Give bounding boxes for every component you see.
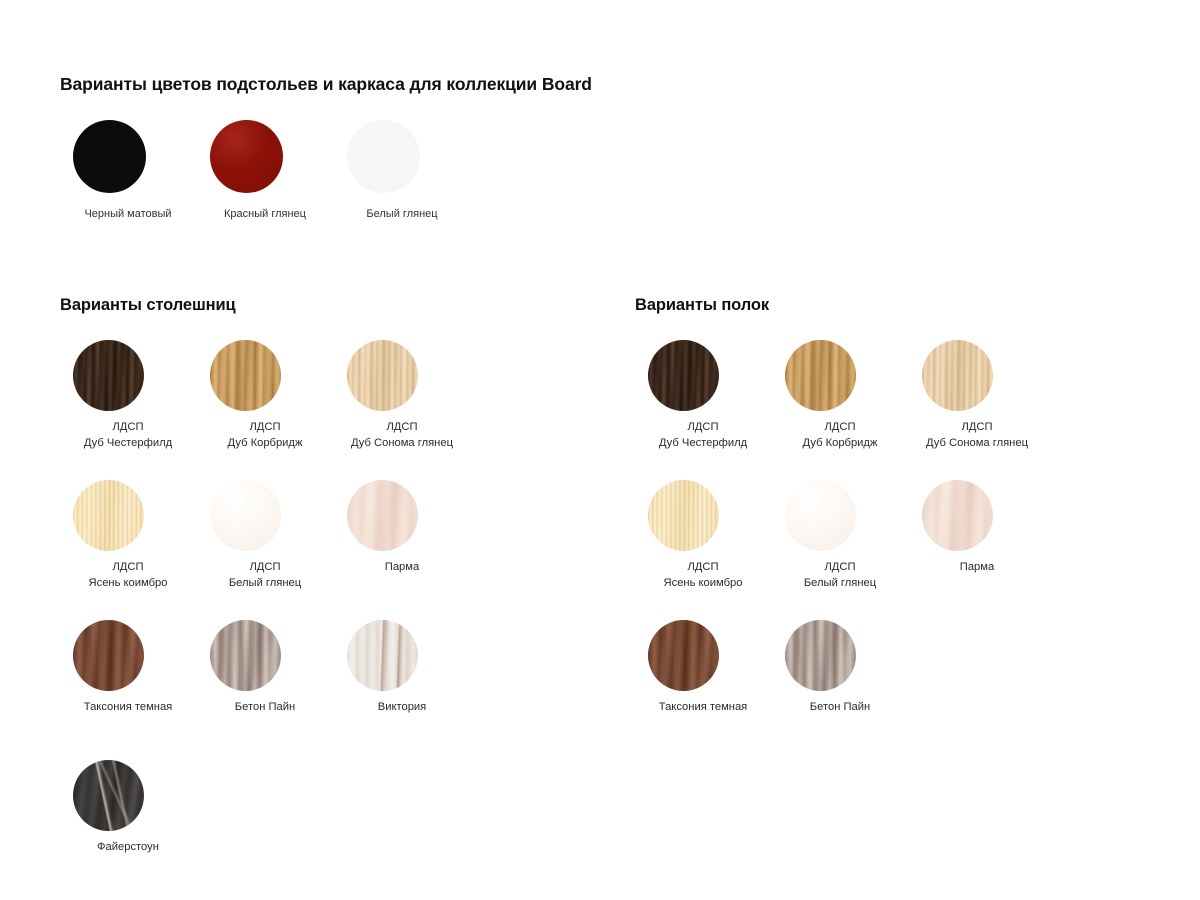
swatch-caption: Бетон Пайн xyxy=(185,700,345,716)
swatch-label-line1: ЛДСП xyxy=(386,421,417,433)
swatch-caption: ЛДСП Дуб Сонома глянец xyxy=(322,420,482,451)
swatch-label-line2: Дуб Честерфилд xyxy=(48,436,208,452)
swatch-label-line1: ЛДСП xyxy=(112,561,143,573)
swatch-caption: Файерстоун xyxy=(48,840,208,856)
ash-coimbro-disc[interactable] xyxy=(648,480,719,551)
swatch-label-line1: ЛДСП xyxy=(824,561,855,573)
tabletop-option[interactable]: ЛДСП Белый глянец xyxy=(197,480,334,620)
swatch-caption: ЛДСП Белый глянец xyxy=(760,560,920,591)
oak-chesterfield-disc[interactable] xyxy=(648,340,719,411)
swatch-label-line1: Черный матовый xyxy=(84,208,171,220)
frame-color-option[interactable]: Черный матовый xyxy=(60,120,197,235)
swatch-caption: ЛДСП Белый глянец xyxy=(185,560,345,591)
shelf-option[interactable]: ЛДСП Дуб Честерфилд xyxy=(635,340,772,480)
swatch-caption: Черный матовый xyxy=(48,207,208,223)
swatch-label-line2: Ясень коимбро xyxy=(48,576,208,592)
swatch-label-line1: ЛДСП xyxy=(961,421,992,433)
white-gloss-laminate-disc[interactable] xyxy=(785,480,856,551)
swatch-label-line1: Бетон Пайн xyxy=(235,701,295,713)
swatch-caption: ЛДСП Дуб Честерфилд xyxy=(48,420,208,451)
tabletop-option[interactable]: Парма xyxy=(334,480,471,620)
swatch-label-line2: Ясень коимбро xyxy=(623,576,783,592)
swatch-caption: ЛДСП Дуб Корбридж xyxy=(185,420,345,451)
shelf-option[interactable]: Таксония темная xyxy=(635,620,772,760)
swatch-label-line1: ЛДСП xyxy=(249,421,280,433)
swatch-caption: ЛДСП Ясень коимбро xyxy=(623,560,783,591)
swatch-label-line1: ЛДСП xyxy=(249,561,280,573)
swatch-caption: ЛДСП Дуб Корбридж xyxy=(760,420,920,451)
tabletop-option[interactable]: Бетон Пайн xyxy=(197,620,334,760)
frame-colors-grid: Черный матовый Красный глянец Белый глян… xyxy=(60,120,494,235)
oak-chesterfield-disc[interactable] xyxy=(73,340,144,411)
oak-corbridge-disc[interactable] xyxy=(785,340,856,411)
swatch-caption: ЛДСП Дуб Сонома глянец xyxy=(897,420,1057,451)
swatch-caption: Виктория xyxy=(322,700,482,716)
tabletop-option[interactable]: ЛДСП Ясень коимбро xyxy=(60,480,197,620)
swatch-label-line1: Парма xyxy=(960,561,994,573)
firestone-disc[interactable] xyxy=(73,760,144,831)
swatch-label-line2: Белый глянец xyxy=(760,576,920,592)
swatch-label-line1: ЛДСП xyxy=(687,561,718,573)
oak-corbridge-disc[interactable] xyxy=(210,340,281,411)
shelf-option[interactable]: ЛДСП Ясень коимбро xyxy=(635,480,772,620)
frame-color-option[interactable]: Белый глянец xyxy=(334,120,471,235)
swatch-label-line1: Таксония темная xyxy=(84,701,172,713)
shelf-option[interactable]: Бетон Пайн xyxy=(772,620,909,760)
shelf-option[interactable]: ЛДСП Дуб Сонома глянец xyxy=(909,340,1046,480)
oak-sonoma-gloss-disc[interactable] xyxy=(347,340,418,411)
shelf-options-grid: ЛДСП Дуб Честерфилд ЛДСП Дуб Корбридж ЛД… xyxy=(635,340,1069,760)
swatch-label-line1: ЛДСП xyxy=(824,421,855,433)
swatch-label-line2: Дуб Корбридж xyxy=(185,436,345,452)
ash-coimbro-disc[interactable] xyxy=(73,480,144,551)
swatch-label-line2: Дуб Сонома глянец xyxy=(897,436,1057,452)
shelves-section-title: Варианты полок xyxy=(635,296,769,315)
swatch-caption: Парма xyxy=(322,560,482,576)
swatch-caption: Белый глянец xyxy=(322,207,482,223)
white-gloss-disc[interactable] xyxy=(347,120,420,193)
tabletop-option[interactable]: Файерстоун xyxy=(60,760,197,900)
swatch-label-line1: Белый глянец xyxy=(366,208,437,220)
beton-pine-disc[interactable] xyxy=(785,620,856,691)
parma-disc[interactable] xyxy=(347,480,418,551)
swatch-label-line2: Белый глянец xyxy=(185,576,345,592)
swatch-caption: ЛДСП Ясень коимбро xyxy=(48,560,208,591)
taxonia-dark-disc[interactable] xyxy=(73,620,144,691)
red-gloss-disc[interactable] xyxy=(210,120,283,193)
beton-pine-disc[interactable] xyxy=(210,620,281,691)
tabletop-option[interactable]: ЛДСП Дуб Корбридж xyxy=(197,340,334,480)
shelf-option[interactable]: ЛДСП Белый глянец xyxy=(772,480,909,620)
swatch-caption: Красный глянец xyxy=(185,207,345,223)
black-matte-disc[interactable] xyxy=(73,120,146,193)
swatch-label-line1: Таксония темная xyxy=(659,701,747,713)
swatch-caption: Таксония темная xyxy=(623,700,783,716)
swatch-label-line1: Красный глянец xyxy=(224,208,306,220)
swatch-label-line1: Парма xyxy=(385,561,419,573)
color-options-page: Варианты цветов подстольев и каркаса для… xyxy=(0,0,1200,900)
tabletop-options-grid: ЛДСП Дуб Честерфилд ЛДСП Дуб Корбридж ЛД… xyxy=(60,340,494,900)
page-title: Варианты цветов подстольев и каркаса для… xyxy=(60,74,592,95)
tabletops-section-title: Варианты столешниц xyxy=(60,296,236,315)
swatch-caption: Таксония темная xyxy=(48,700,208,716)
oak-sonoma-gloss-disc[interactable] xyxy=(922,340,993,411)
victoria-disc[interactable] xyxy=(347,620,418,691)
swatch-label-line1: Файерстоун xyxy=(97,841,159,853)
swatch-label-line2: Дуб Сонома глянец xyxy=(322,436,482,452)
tabletop-option[interactable]: Таксония темная xyxy=(60,620,197,760)
swatch-label-line1: Бетон Пайн xyxy=(810,701,870,713)
shelf-option[interactable]: Парма xyxy=(909,480,1046,620)
shelf-option[interactable]: ЛДСП Дуб Корбридж xyxy=(772,340,909,480)
tabletop-option[interactable]: ЛДСП Дуб Сонома глянец xyxy=(334,340,471,480)
frame-color-option[interactable]: Красный глянец xyxy=(197,120,334,235)
tabletop-option[interactable]: Виктория xyxy=(334,620,471,760)
swatch-label-line2: Дуб Корбридж xyxy=(760,436,920,452)
white-gloss-laminate-disc[interactable] xyxy=(210,480,281,551)
swatch-label-line1: ЛДСП xyxy=(687,421,718,433)
swatch-caption: Парма xyxy=(897,560,1057,576)
swatch-caption: ЛДСП Дуб Честерфилд xyxy=(623,420,783,451)
swatch-caption: Бетон Пайн xyxy=(760,700,920,716)
swatch-label-line2: Дуб Честерфилд xyxy=(623,436,783,452)
tabletop-option[interactable]: ЛДСП Дуб Честерфилд xyxy=(60,340,197,480)
swatch-label-line1: Виктория xyxy=(378,701,426,713)
swatch-label-line1: ЛДСП xyxy=(112,421,143,433)
taxonia-dark-disc[interactable] xyxy=(648,620,719,691)
parma-disc[interactable] xyxy=(922,480,993,551)
